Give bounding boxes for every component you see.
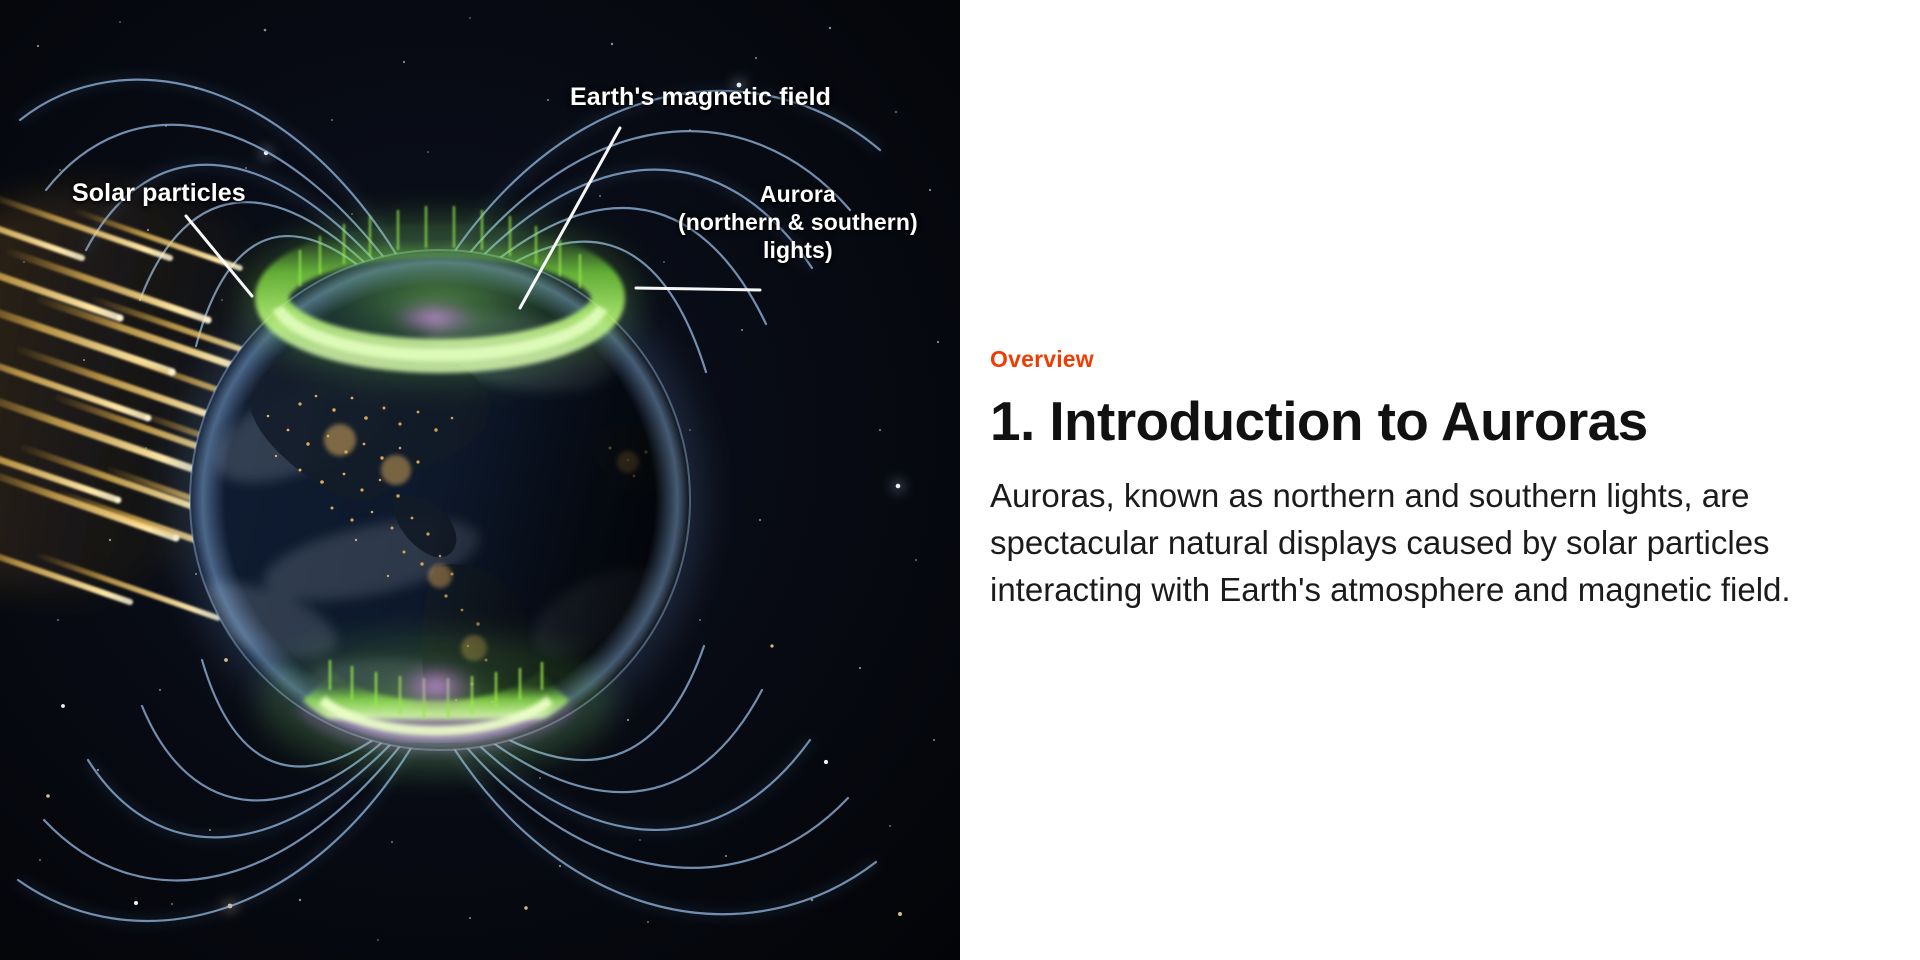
aurora-illustration-panel: Solar particles Earth's magnetic field A…: [0, 0, 960, 960]
figure-label-aurora-line2: (northern & southern): [678, 208, 918, 236]
body-paragraph: Auroras, known as northern and southern …: [990, 473, 1850, 614]
eyebrow-label: Overview: [990, 346, 1850, 373]
aurora-diagram-svg: [0, 0, 960, 960]
figure-label-aurora-line1: Aurora: [678, 180, 918, 208]
figure-label-aurora-line3: lights): [678, 236, 918, 264]
slide-root: Solar particles Earth's magnetic field A…: [0, 0, 1920, 960]
content-panel: Overview 1. Introduction to Auroras Auro…: [960, 0, 1920, 960]
leader-aurora: [636, 288, 760, 290]
figure-label-earths-magnetic-field: Earth's magnetic field: [570, 82, 831, 113]
figure-label-solar-particles: Solar particles: [72, 178, 246, 209]
page-title: 1. Introduction to Auroras: [990, 393, 1850, 451]
aurora-southern-oval: [274, 650, 598, 758]
figure-label-aurora: Aurora (northern & southern) lights): [678, 180, 918, 264]
